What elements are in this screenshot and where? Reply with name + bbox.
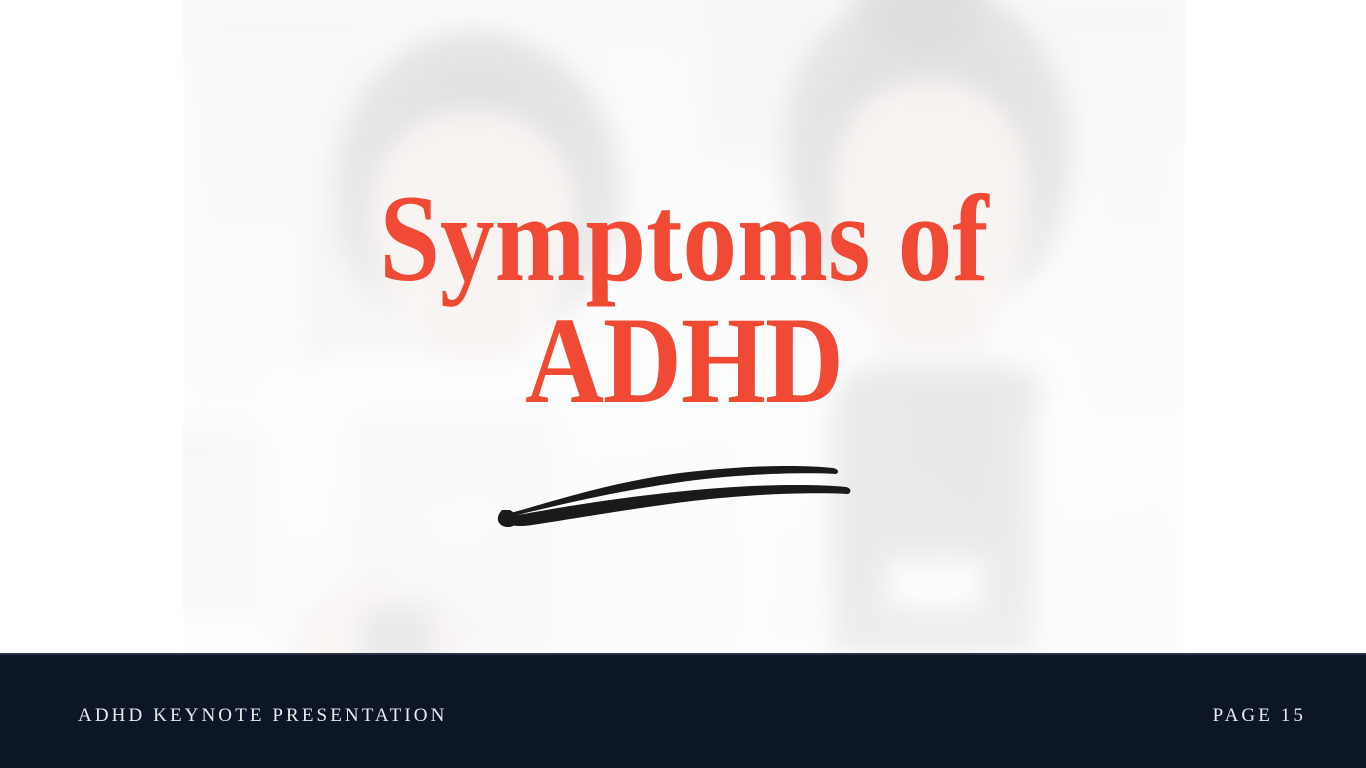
footer-page-number: PAGE 15	[1213, 705, 1306, 727]
right-student-sleeve	[1033, 380, 1183, 653]
wall-panel-far-right	[1088, 80, 1178, 410]
tshirt-logo-bars	[415, 490, 505, 555]
footer-presentation-title: ADHD KEYNOTE PRESENTATION	[78, 705, 447, 727]
slide-photo: adidas ATHLETIC	[183, 0, 1185, 653]
presentation-slide: adidas ATHLETIC Symptoms	[0, 0, 1366, 768]
name-badge	[888, 560, 983, 608]
photo-canvas: adidas ATHLETIC	[183, 0, 1185, 653]
held-object	[363, 608, 433, 653]
photo-blur-layer: adidas ATHLETIC	[183, 0, 1185, 653]
lanyard-cord	[873, 380, 1017, 580]
slide-footer: ADHD KEYNOTE PRESENTATION PAGE 15	[0, 653, 1366, 768]
